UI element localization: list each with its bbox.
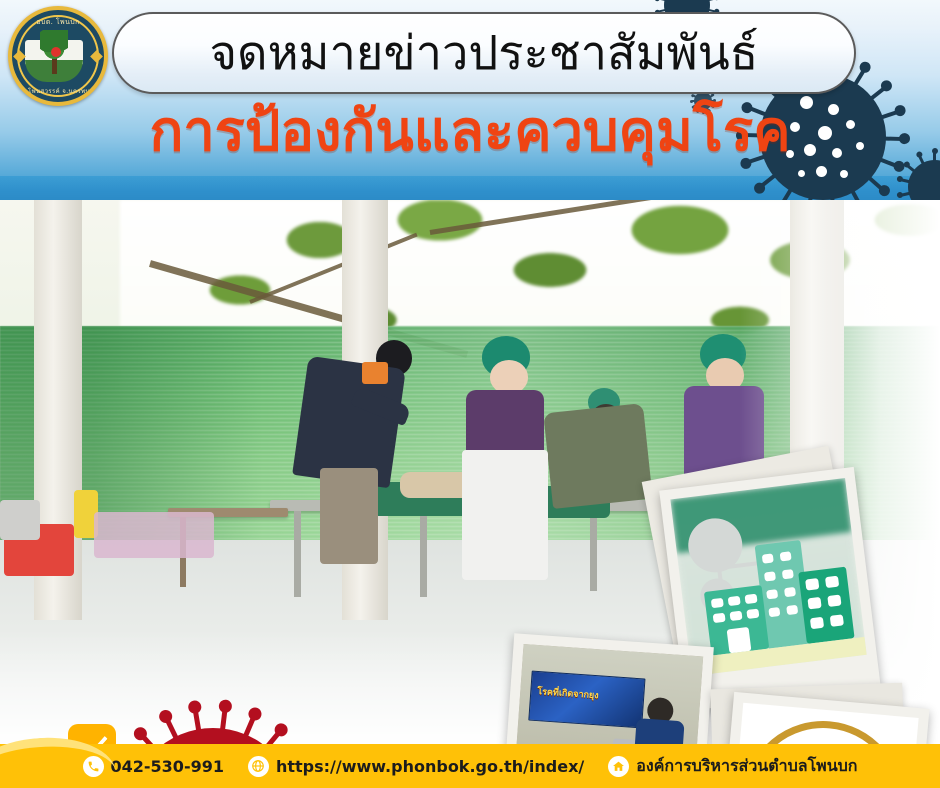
footer-organization[interactable]: องค์การบริหารส่วนตำบลโพนบก xyxy=(608,754,857,779)
globe-icon xyxy=(248,756,269,777)
page-title: จดหมายข่าวประชาสัมพันธ์ xyxy=(210,30,759,77)
organization-seal-icon: อบต. โพนบก อ.โพนสวรรค์ จ.นครพนม xyxy=(8,6,108,106)
footer-organization-text: องค์การบริหารส่วนตำบลโพนบก xyxy=(636,754,857,779)
page-subtitle: การป้องกันและควบคุมโรค xyxy=(0,104,940,160)
main-photo-area: โรคที่เกิดจากยุง xyxy=(0,200,940,788)
home-icon xyxy=(608,756,629,777)
seal-top-text: อบต. โพนบก xyxy=(12,17,104,28)
virus-pore xyxy=(840,170,848,178)
footer-website[interactable]: https://www.phonbok.go.th/index/ xyxy=(248,756,584,777)
poster-root: อบต. โพนบก อ.โพนสวรรค์ จ.นครพนม จดหมายข่… xyxy=(0,0,940,788)
newsletter-title-pill: จดหมายข่าวประชาสัมพันธ์ xyxy=(112,12,856,94)
seminar-banner: โรคที่เกิดจากยุง xyxy=(528,671,645,729)
footer-phone-text: 042-530-991 xyxy=(111,757,224,776)
virus-pore xyxy=(798,170,805,177)
footer-website-text: https://www.phonbok.go.th/index/ xyxy=(276,757,584,776)
poster-footer: 042-530-991 https://www.phonbok.go.th/in… xyxy=(0,744,940,788)
seal-bottom-text: อ.โพนสวรรค์ จ.นครพนม xyxy=(12,86,104,96)
virus-decoration-edge-icon xyxy=(908,160,940,200)
poster-header: อบต. โพนบก อ.โพนสวรรค์ จ.นครพนม จดหมายข่… xyxy=(0,0,940,200)
seminar-banner-text: โรคที่เกิดจากยุง xyxy=(537,684,599,702)
virus-pore xyxy=(816,166,827,177)
